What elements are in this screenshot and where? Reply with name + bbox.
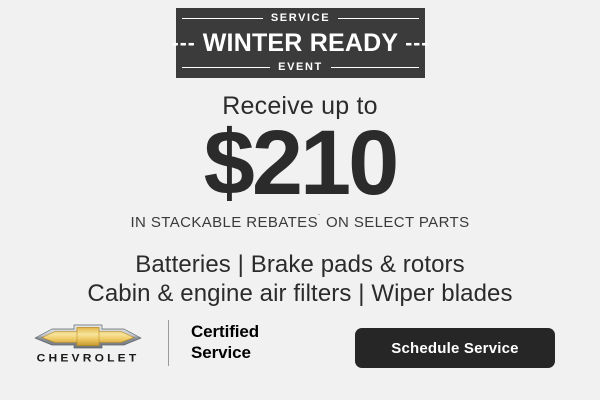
badge-rule-left-lower bbox=[182, 67, 270, 68]
badge-dashes-right: --- bbox=[405, 33, 429, 54]
brand-lockup: CHEVROLET Certified Service bbox=[32, 320, 259, 366]
badge-eyebrow-row: SERVICE bbox=[182, 13, 419, 24]
parts-line-2: Cabin & engine air filters | Wiper blade… bbox=[0, 279, 600, 308]
brand-divider bbox=[168, 320, 169, 366]
chevrolet-logo: CHEVROLET bbox=[32, 323, 144, 364]
badge-eyebrow-label: SERVICE bbox=[271, 13, 330, 24]
certified-service-line-1: Certified bbox=[191, 322, 259, 343]
certified-service-line-2: Service bbox=[191, 343, 259, 364]
badge-footer-row: EVENT bbox=[182, 62, 419, 73]
badge-title-row: --- WINTER READY --- bbox=[182, 30, 419, 57]
badge-rule-left bbox=[182, 18, 263, 19]
offer-amount: $210 bbox=[0, 117, 600, 209]
winter-ready-badge: SERVICE --- WINTER READY --- EVENT bbox=[176, 8, 425, 78]
badge-title: WINTER READY bbox=[203, 31, 398, 56]
badge-footer-label: EVENT bbox=[278, 62, 323, 73]
parts-line-1: Batteries | Brake pads & rotors bbox=[0, 250, 600, 279]
badge-dashes-left: --- bbox=[172, 33, 196, 54]
chevrolet-bowtie-icon bbox=[32, 323, 144, 349]
advertisement-banner: SERVICE --- WINTER READY --- EVENT Recei… bbox=[0, 0, 600, 400]
eligible-parts-list: Batteries | Brake pads & rotors Cabin & … bbox=[0, 250, 600, 309]
rebates-suffix: ON SELECT PARTS bbox=[321, 214, 469, 231]
chevrolet-wordmark: CHEVROLET bbox=[37, 352, 140, 363]
offer-rebates-line: IN STACKABLE REBATES˙ ON SELECT PARTS bbox=[0, 214, 600, 230]
badge-rule-right-lower bbox=[331, 67, 419, 68]
footer-bar: CHEVROLET Certified Service Schedule Ser… bbox=[0, 318, 600, 380]
badge-rule-right bbox=[338, 18, 419, 19]
schedule-service-button[interactable]: Schedule Service bbox=[355, 328, 555, 368]
rebates-text: IN STACKABLE REBATES bbox=[130, 214, 318, 231]
certified-service-label: Certified Service bbox=[191, 322, 259, 363]
